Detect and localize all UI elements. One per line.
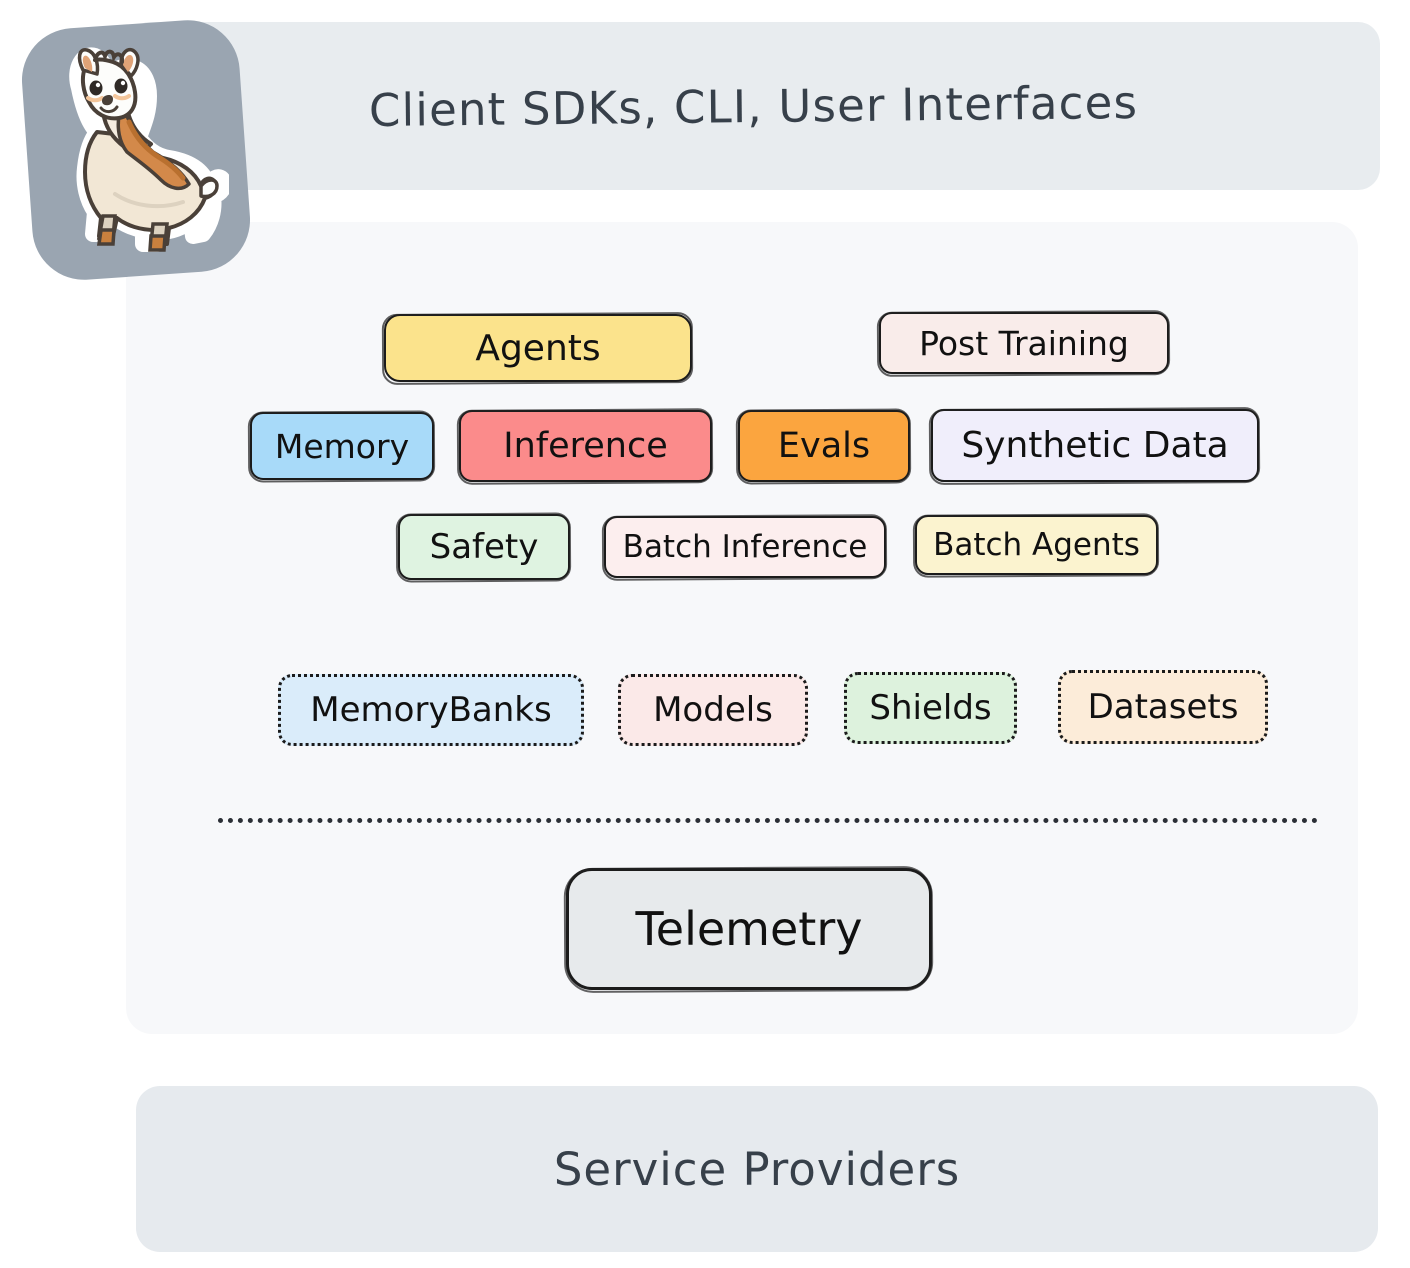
api-box-safety-label: Safety [430,527,539,567]
api-box-agents[interactable]: Agents [384,314,692,382]
api-box-batch-agents-label: Batch Agents [933,527,1140,563]
resource-box-datasets-label: Datasets [1088,687,1239,727]
telemetry-box[interactable]: Telemetry [566,868,932,990]
api-box-post-training[interactable]: Post Training [879,312,1169,374]
api-box-evals-label: Evals [778,426,870,466]
api-box-inference-label: Inference [503,426,667,466]
client-sdk-band-label: Client SDKs, CLI, User Interfaces [369,75,1139,136]
resource-box-datasets[interactable]: Datasets [1058,670,1268,744]
diagram-canvas: Client SDKs, CLI, User Interfaces [0,0,1410,1268]
llama-icon [18,17,253,284]
resource-box-models[interactable]: Models [618,674,808,746]
resource-box-shields-label: Shields [869,688,991,728]
api-box-agents-label: Agents [475,328,600,369]
api-box-batch-agents[interactable]: Batch Agents [915,515,1158,575]
service-providers-band: Service Providers [136,1086,1378,1252]
api-box-post-training-label: Post Training [919,324,1129,363]
api-box-safety[interactable]: Safety [398,514,570,580]
resource-box-shields[interactable]: Shields [844,672,1017,744]
api-box-synthetic-data-label: Synthetic Data [961,425,1228,466]
api-box-batch-inference-label: Batch Inference [623,529,868,565]
service-providers-band-label: Service Providers [554,1143,960,1196]
api-box-inference[interactable]: Inference [459,410,712,482]
api-box-evals[interactable]: Evals [738,410,910,482]
api-box-batch-inference[interactable]: Batch Inference [604,516,886,578]
client-sdk-band: Client SDKs, CLI, User Interfaces [128,22,1380,190]
resource-box-memorybanks-label: MemoryBanks [310,690,551,730]
section-divider [218,818,1318,823]
resource-box-models-label: Models [653,690,773,730]
resource-box-memorybanks[interactable]: MemoryBanks [278,674,584,746]
api-box-memory[interactable]: Memory [250,412,434,480]
api-box-memory-label: Memory [275,427,409,466]
api-box-synthetic-data[interactable]: Synthetic Data [931,409,1259,482]
telemetry-box-label: Telemetry [636,902,863,956]
